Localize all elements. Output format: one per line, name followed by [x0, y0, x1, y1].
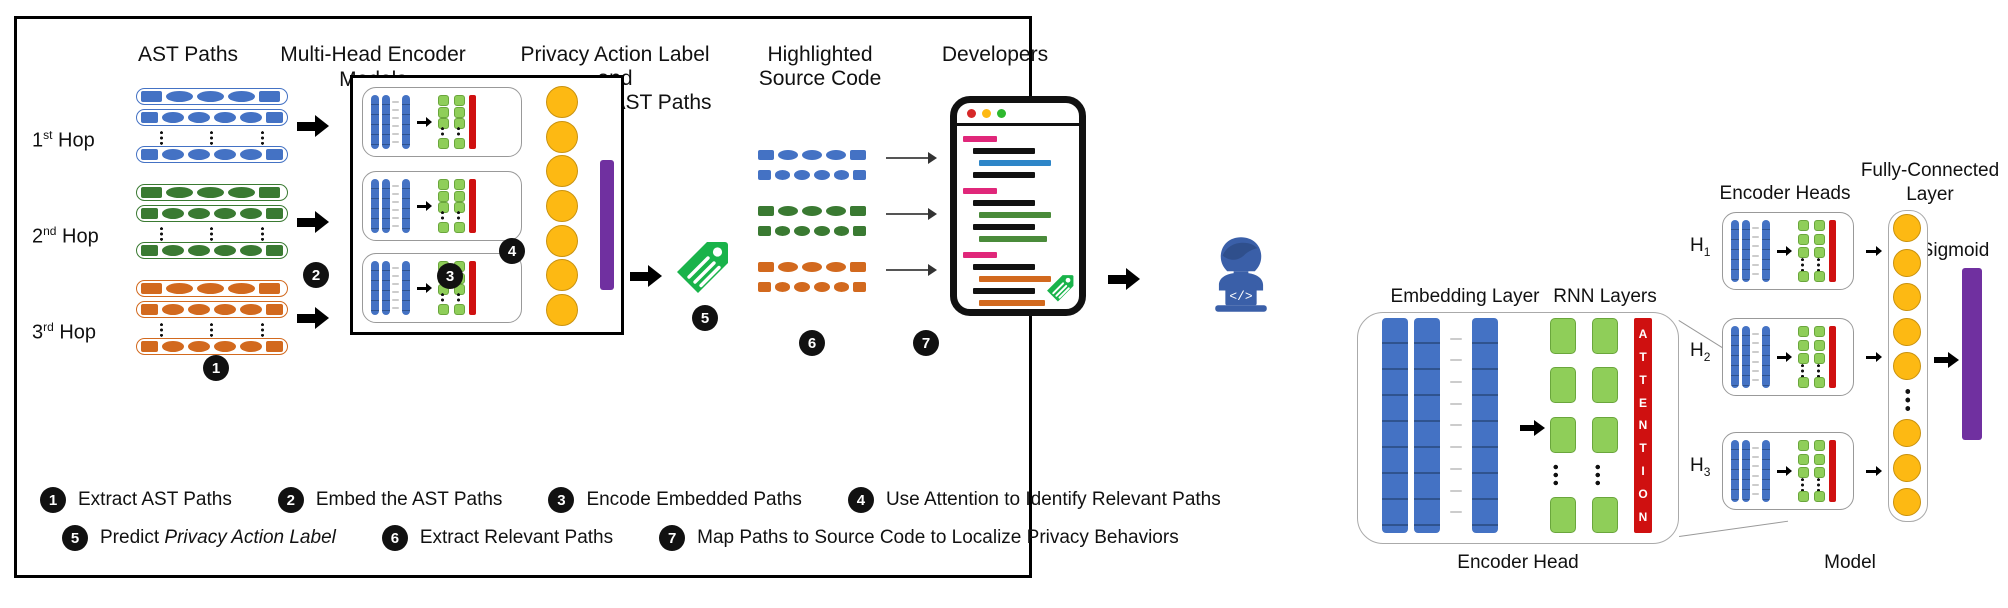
attention-bar-mini — [469, 261, 476, 315]
head-card-2 — [1722, 318, 1854, 396]
sigmoid-bar-left — [600, 160, 614, 290]
legend-text-4: Use Attention to Identify Relevant Paths — [886, 489, 1221, 511]
fc-circles-left — [545, 86, 579, 326]
ast-node-square — [758, 170, 771, 180]
ast-node-ellipse — [197, 187, 224, 198]
label-fully-connected-l2: Layer — [1845, 184, 2008, 206]
ast-node-ellipse — [162, 112, 184, 123]
title-privacy-label-l1: Privacy Action Label — [500, 42, 730, 67]
encoder-card-1 — [362, 87, 522, 157]
rnn-column — [1814, 326, 1825, 388]
arrow-embed-to-rnn-mini — [1777, 466, 1792, 476]
hop-1-number: 1 — [32, 130, 43, 152]
rnn-cell — [1550, 417, 1576, 453]
code-line — [979, 160, 1051, 166]
code-line — [973, 264, 1035, 270]
code-line — [973, 148, 1035, 154]
ellipsis-row — [1548, 461, 1563, 488]
ast-paths-group-hop1 — [136, 88, 288, 167]
rnn-cell — [1814, 234, 1825, 245]
rnn-cell — [1814, 440, 1825, 451]
ast-node-ellipse — [826, 206, 846, 216]
vertical-ellipsis — [1801, 364, 1804, 378]
ast-node-ellipse — [188, 304, 210, 315]
arrow-fc-to-sigmoid — [1934, 352, 1959, 368]
ellipsis-row — [1902, 379, 1912, 421]
ast-node-ellipse — [834, 282, 850, 292]
ast-node-square — [141, 283, 162, 294]
rnn-cells-mini — [1798, 220, 1825, 282]
ast-node-square — [266, 245, 283, 256]
code-line — [973, 172, 1035, 178]
rnn-cell — [1798, 467, 1809, 478]
rnn-column — [454, 179, 465, 233]
attention-bar-mini — [1829, 326, 1836, 388]
ast-path-row — [136, 338, 288, 355]
fc-neuron — [546, 121, 578, 153]
embedding-column — [1731, 220, 1739, 282]
highlighted-source-code-phone — [950, 96, 1086, 316]
embedding-ellipsis — [1751, 220, 1760, 282]
figure-root: AST Paths Multi-Head Encoder Models Priv… — [0, 0, 2008, 608]
rnn-cells-mini — [438, 179, 465, 233]
fc-neuron — [1893, 419, 1921, 447]
ellipsis-row — [438, 296, 446, 304]
ast-node-ellipse — [214, 245, 236, 256]
step-marker-6: 6 — [799, 330, 825, 356]
ast-node-ellipse — [197, 283, 224, 294]
rnn-column — [1814, 220, 1825, 282]
ast-node-ellipse — [188, 112, 210, 123]
rnn-cell — [454, 304, 465, 315]
ast-node-square — [259, 187, 280, 198]
embedding-column — [1731, 440, 1739, 502]
code-line — [973, 200, 1035, 206]
rnn-cell — [454, 107, 465, 118]
ast-node-ellipse — [775, 226, 791, 236]
rnn-cell — [1798, 353, 1809, 364]
ellipsis-row — [454, 214, 462, 222]
ast-node-square — [853, 226, 866, 236]
rnn-cell — [1592, 497, 1618, 533]
ast-node-ellipse — [794, 170, 810, 180]
privacy-label-tag-icon — [673, 238, 731, 301]
ast-node-ellipse — [802, 206, 822, 216]
attention-letter: A — [1639, 327, 1648, 341]
rnn-cell — [1814, 220, 1825, 231]
ast-node-square — [758, 150, 774, 160]
weighted-paths-hop1 — [754, 146, 870, 187]
ast-node-square — [141, 91, 162, 102]
embedding-column — [1762, 326, 1770, 388]
embedding-layer-mini — [369, 261, 411, 315]
vertical-ellipsis — [160, 227, 163, 241]
ellipsis-row — [1798, 367, 1806, 375]
ast-node-square — [141, 112, 158, 123]
rnn-cell — [438, 107, 449, 118]
title-ast-paths: AST Paths — [98, 42, 278, 67]
ast-path-row — [754, 258, 870, 275]
arrow-wp3-to-code — [886, 264, 937, 276]
fc-neuron — [546, 225, 578, 257]
fc-neuron — [546, 259, 578, 291]
embedding-column — [1414, 318, 1440, 533]
title-developers: Developers — [900, 42, 1090, 67]
rnn-cell — [454, 138, 465, 149]
vertical-ellipsis — [1801, 478, 1804, 492]
attention-letter: N — [1639, 418, 1648, 432]
ellipsis-row — [1798, 481, 1806, 489]
arrow-wp2-to-code — [886, 208, 937, 220]
traffic-light-yellow-icon — [982, 109, 991, 118]
fc-neuron — [1893, 318, 1921, 346]
head-3-name: H — [1690, 455, 1704, 476]
ast-node-ellipse — [240, 112, 262, 123]
ast-node-ellipse — [162, 304, 184, 315]
fc-neuron — [546, 190, 578, 222]
hop-3-sup: rd — [43, 320, 54, 334]
arrow-embed-to-rnn-mini — [417, 283, 432, 293]
rnn-cell — [1550, 367, 1576, 403]
rnn-cell — [1592, 318, 1618, 354]
attention-letter: T — [1639, 373, 1646, 387]
rnn-cell — [1814, 377, 1825, 388]
arrow-ast2-to-encoder — [297, 211, 329, 233]
attention-letter: O — [1638, 487, 1647, 501]
ast-node-square — [850, 150, 866, 160]
fc-neuron — [1893, 454, 1921, 482]
rnn-cell — [1798, 271, 1809, 282]
legend-num-2: 2 — [278, 487, 304, 513]
ast-node-square — [259, 283, 280, 294]
arrow-wp1-to-code — [886, 152, 937, 164]
connector-bottom — [1679, 521, 1788, 538]
ast-node-ellipse — [188, 341, 210, 352]
weighted-paths-hop2 — [754, 202, 870, 243]
rnn-column — [1798, 326, 1809, 388]
ast-node-ellipse — [188, 208, 210, 219]
rnn-cell — [454, 179, 465, 190]
hop-label-1: 1st Hop — [32, 128, 95, 153]
step-marker-2: 2 — [303, 262, 329, 288]
vertical-ellipsis — [1595, 464, 1600, 485]
hop-2-sup: nd — [43, 224, 56, 238]
ellipsis-row — [136, 322, 288, 338]
attention-letter: T — [1639, 441, 1646, 455]
embedding-ellipsis — [1751, 440, 1760, 502]
caption-model: Model — [1790, 552, 1910, 574]
ast-node-ellipse — [197, 91, 224, 102]
ast-node-ellipse — [814, 282, 830, 292]
rnn-column — [1550, 318, 1576, 533]
embedding-column — [382, 261, 390, 315]
rnn-cell — [1798, 326, 1809, 337]
hop-label-2: 2nd Hop — [32, 224, 99, 249]
arrow-ast1-to-encoder — [297, 115, 329, 137]
ast-node-ellipse — [162, 149, 184, 160]
ast-node-ellipse — [802, 150, 822, 160]
rnn-cell — [438, 95, 449, 106]
ast-node-ellipse — [814, 170, 830, 180]
head-2-name: H — [1690, 340, 1704, 361]
hop-3-number: 3 — [32, 322, 43, 344]
embedding-column — [402, 179, 410, 233]
ellipsis-row — [454, 296, 462, 304]
encoder-card-2 — [362, 171, 522, 241]
ast-node-ellipse — [794, 226, 810, 236]
attention-bar-mini — [469, 95, 476, 149]
rnn-cell — [1814, 271, 1825, 282]
rnn-cell — [1798, 247, 1809, 258]
rnn-cell — [454, 222, 465, 233]
ast-node-ellipse — [802, 262, 822, 272]
ast-node-ellipse — [834, 170, 850, 180]
ast-node-ellipse — [188, 245, 210, 256]
arrow-head1-to-fc — [1866, 246, 1882, 256]
rnn-cell — [1798, 491, 1809, 502]
head-card-1 — [1722, 212, 1854, 290]
embedding-column — [1762, 440, 1770, 502]
ellipsis-row — [136, 130, 288, 146]
rnn-column — [1798, 440, 1809, 502]
legend-num-5: 5 — [62, 525, 88, 551]
code-line — [979, 276, 1051, 282]
code-line — [979, 212, 1051, 218]
fc-neuron — [1893, 249, 1921, 277]
legend-text-5: Predict Privacy Action Label — [100, 527, 336, 549]
ast-node-ellipse — [214, 149, 236, 160]
ast-node-ellipse — [166, 283, 193, 294]
head-1-name: H — [1690, 235, 1704, 256]
ast-node-square — [141, 187, 162, 198]
rnn-cell — [438, 191, 449, 202]
caption-encoder-head: Encoder Head — [1418, 552, 1618, 574]
rnn-cell — [1592, 367, 1618, 403]
ast-node-square — [266, 208, 283, 219]
legend-text-5-em: Privacy Action Label — [164, 527, 335, 548]
embedding-column — [1742, 440, 1750, 502]
ast-path-row — [136, 146, 288, 163]
fc-neuron — [1893, 214, 1921, 242]
fc-neuron — [546, 86, 578, 118]
legend-text-3: Encode Embedded Paths — [586, 489, 802, 511]
fc-neuron — [1893, 283, 1921, 311]
embedding-column — [402, 95, 410, 149]
step-marker-7: 7 — [913, 330, 939, 356]
svg-text:</>: </> — [1229, 289, 1252, 304]
rnn-cell — [438, 222, 449, 233]
ast-node-square — [266, 112, 283, 123]
hop-2-suffix: Hop — [56, 226, 98, 248]
rnn-cell — [438, 138, 449, 149]
hop-3-suffix: Hop — [54, 322, 96, 344]
vertical-ellipsis — [1817, 258, 1820, 272]
ast-node-ellipse — [778, 150, 798, 160]
ast-node-square — [266, 149, 283, 160]
rnn-cell — [1814, 340, 1825, 351]
rnn-cell — [1814, 353, 1825, 364]
embedding-column — [371, 179, 379, 233]
ellipsis-row — [438, 214, 446, 222]
arrow-embed-to-rnn-mini — [417, 201, 432, 211]
head-label-2: H2 — [1690, 340, 1710, 364]
ast-node-square — [259, 91, 280, 102]
ellipsis-row — [438, 130, 446, 138]
ellipsis-row — [454, 130, 462, 138]
legend-num-6: 6 — [382, 525, 408, 551]
attention-bar-mini — [1829, 220, 1836, 282]
rnn-cell — [1798, 377, 1809, 388]
fc-neuron — [1893, 488, 1921, 516]
legend-num-7: 7 — [659, 525, 685, 551]
rnn-cell — [1814, 491, 1825, 502]
developer-icon: </> — [1195, 228, 1287, 325]
hop-label-3: 3rd Hop — [32, 320, 96, 345]
arrow-encoder-to-tag — [630, 265, 662, 287]
ast-node-ellipse — [775, 282, 791, 292]
traffic-light-green-icon — [997, 109, 1006, 118]
legend-text-1: Extract AST Paths — [78, 489, 232, 511]
ast-node-ellipse — [188, 149, 210, 160]
ast-node-square — [141, 304, 158, 315]
ast-node-ellipse — [775, 170, 791, 180]
ast-node-square — [141, 341, 158, 352]
ast-node-square — [758, 282, 771, 292]
rnn-column — [1814, 440, 1825, 502]
ast-path-row — [136, 242, 288, 259]
rnn-cell — [438, 179, 449, 190]
embedding-column — [1762, 220, 1770, 282]
embedding-column — [1742, 220, 1750, 282]
hop-1-suffix: Hop — [52, 130, 94, 152]
attention-letter: E — [1639, 396, 1647, 410]
ast-node-ellipse — [166, 91, 193, 102]
fc-neuron — [546, 294, 578, 326]
ast-node-ellipse — [162, 341, 184, 352]
ellipsis-row — [1814, 367, 1822, 375]
code-line — [979, 300, 1045, 306]
head-label-1: H1 — [1690, 235, 1710, 259]
ast-path-row — [754, 202, 870, 219]
vertical-ellipsis — [1553, 464, 1558, 485]
vertical-ellipsis — [1817, 364, 1820, 378]
embedding-layer-mini — [369, 95, 411, 149]
code-line — [963, 136, 997, 142]
rnn-cell — [1814, 326, 1825, 337]
embedding-column — [382, 179, 390, 233]
embedding-ellipsis — [391, 95, 400, 149]
ellipsis-row — [1798, 261, 1806, 269]
legend-text-5-pre: Predict — [100, 527, 164, 548]
legend-row-2: 5 Predict Privacy Action Label 6 Extract… — [62, 525, 1179, 551]
arrow-head2-to-fc — [1866, 352, 1882, 362]
ast-node-ellipse — [778, 262, 798, 272]
attention-letter: T — [1639, 350, 1646, 364]
rnn-column — [1798, 220, 1809, 282]
step-marker-5: 5 — [692, 305, 718, 331]
embedding-column — [1731, 326, 1739, 388]
ast-node-ellipse — [240, 245, 262, 256]
embedding-column — [1382, 318, 1408, 533]
embedding-column — [1472, 318, 1498, 533]
fc-neuron — [1893, 352, 1921, 380]
code-line — [979, 236, 1047, 242]
rnn-cell — [454, 95, 465, 106]
traffic-light-red-icon — [967, 109, 976, 118]
ast-node-square — [141, 208, 158, 219]
ast-node-ellipse — [228, 283, 255, 294]
embedding-ellipsis — [391, 261, 400, 315]
embedding-column — [371, 95, 379, 149]
code-line — [973, 224, 1035, 230]
ast-node-square — [758, 226, 771, 236]
vertical-ellipsis — [1905, 388, 1910, 410]
ast-node-ellipse — [214, 208, 236, 219]
tag-badge-small-icon — [1045, 273, 1075, 308]
ast-node-square — [850, 262, 866, 272]
rnn-cell — [1798, 220, 1809, 231]
rnn-cell — [438, 304, 449, 315]
rnn-cell — [1814, 247, 1825, 258]
ast-node-ellipse — [214, 112, 236, 123]
ast-path-row — [754, 222, 870, 239]
ast-node-square — [141, 149, 158, 160]
attention-bar-mini — [1829, 440, 1836, 502]
ast-path-row — [754, 146, 870, 163]
arrow-ast3-to-encoder — [297, 307, 329, 329]
rnn-cell-grid — [1550, 318, 1628, 533]
ast-node-ellipse — [826, 150, 846, 160]
rnn-cell — [1814, 454, 1825, 465]
title-highlighted-l1: Highlighted — [730, 42, 910, 67]
legend-row-1: 1 Extract AST Paths 2 Embed the AST Path… — [40, 487, 1221, 513]
attention-bar-mini — [469, 179, 476, 233]
vertical-ellipsis — [261, 227, 264, 241]
ast-path-row — [136, 88, 288, 105]
ast-node-square — [266, 304, 283, 315]
ast-path-row — [136, 184, 288, 201]
label-embedding-layer: Embedding Layer — [1375, 286, 1555, 308]
encoder-card-3 — [362, 253, 522, 323]
embedding-columns — [1380, 318, 1515, 533]
head-3-sub: 3 — [1704, 465, 1711, 479]
step-marker-4: 4 — [499, 238, 525, 264]
ellipsis-row — [1814, 481, 1822, 489]
vertical-ellipsis — [160, 131, 163, 145]
ast-node-ellipse — [778, 206, 798, 216]
rnn-cells-mini — [1798, 440, 1825, 502]
fc-circles-right — [1890, 214, 1924, 516]
vertical-ellipsis — [261, 323, 264, 337]
legend-text-6: Extract Relevant Paths — [420, 527, 613, 549]
ellipsis-row — [1814, 261, 1822, 269]
rnn-column — [438, 179, 449, 233]
arrow-code-to-developer — [1108, 268, 1140, 290]
arrow-embed-to-rnn-mini — [1777, 352, 1792, 362]
title-highlighted-l2: Source Code — [730, 66, 910, 91]
label-fully-connected-l1: Fully-Connected — [1845, 160, 2008, 182]
ast-node-square — [266, 341, 283, 352]
ast-node-ellipse — [826, 262, 846, 272]
ast-paths-group-hop3 — [136, 280, 288, 359]
phone-titlebar — [957, 103, 1079, 126]
embedding-column — [371, 261, 379, 315]
ast-node-square — [850, 206, 866, 216]
rnn-cell — [1814, 467, 1825, 478]
label-rnn-layers: RNN Layers — [1545, 286, 1665, 308]
embedding-ellipsis — [1751, 326, 1760, 388]
ast-node-square — [853, 170, 866, 180]
